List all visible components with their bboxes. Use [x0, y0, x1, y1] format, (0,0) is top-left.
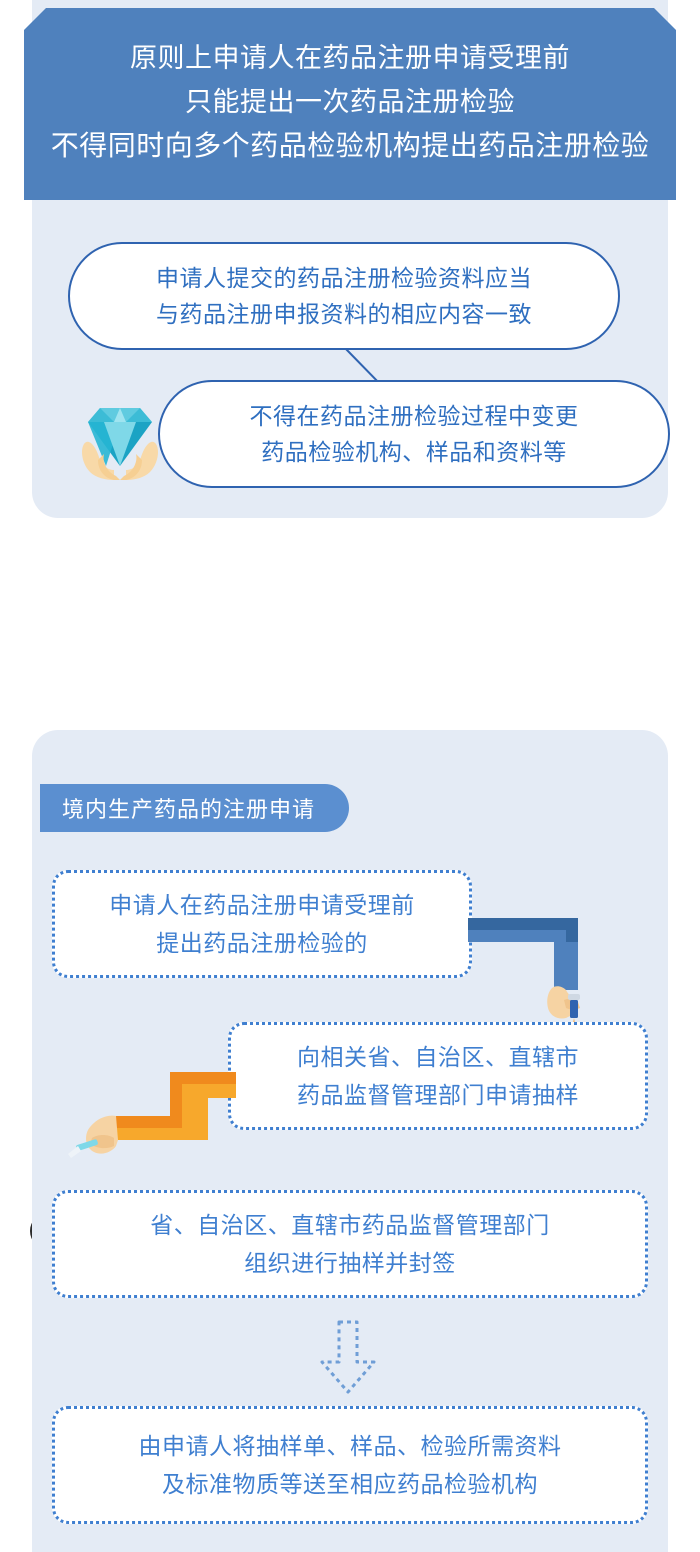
- flow-step-3-line-1: 省、自治区、直辖市药品监督管理部门: [150, 1206, 550, 1244]
- down-arrow-icon: [308, 1320, 388, 1394]
- rule-bubble-two-line-2: 药品检验机构、样品和资料等: [261, 434, 567, 470]
- category-tag-label: 境内生产药品的注册申请: [62, 792, 315, 824]
- article-heading: 第五十五条: [0, 600, 700, 710]
- orange-arm-with-pen-icon: [58, 1068, 248, 1188]
- headline-banner: 原则上申请人在药品注册申请受理前 只能提出一次药品注册检验 不得同时向多个药品检…: [24, 8, 676, 200]
- blue-arm-with-pen-icon: [468, 900, 598, 1030]
- flow-step-3-line-2: 组织进行抽样并封签: [244, 1244, 456, 1282]
- rule-bubble-two: 不得在药品注册检验过程中变更 药品检验机构、样品和资料等: [158, 380, 670, 488]
- headline-line-2: 只能提出一次药品注册检验: [185, 80, 515, 124]
- category-tag: 境内生产药品的注册申请: [40, 784, 349, 832]
- headline-line-1: 原则上申请人在药品注册申请受理前: [130, 36, 570, 80]
- flow-step-1-line-2: 提出药品注册检验的: [156, 924, 368, 962]
- rule-bubble-one-line-2: 与药品注册申报资料的相应内容一致: [156, 296, 532, 332]
- flow-step-2-line-1: 向相关省、自治区、直辖市: [297, 1038, 579, 1076]
- flow-step-3: 省、自治区、直辖市药品监督管理部门 组织进行抽样并封签: [52, 1190, 648, 1298]
- rule-bubble-two-line-1: 不得在药品注册检验过程中变更: [250, 398, 579, 434]
- rule-bubble-one-line-1: 申请人提交的药品注册检验资料应当: [156, 260, 532, 296]
- diamond-in-hands-icon: [74, 392, 166, 484]
- flow-step-2-line-2: 药品监督管理部门申请抽样: [297, 1076, 579, 1114]
- flow-step-4-line-1: 由申请人将抽样单、样品、检验所需资料: [139, 1427, 562, 1465]
- flow-step-4-line-2: 及标准物质等送至相应药品检验机构: [162, 1465, 538, 1503]
- flow-step-1: 申请人在药品注册申请受理前 提出药品注册检验的: [52, 870, 472, 978]
- rule-bubble-one: 申请人提交的药品注册检验资料应当 与药品注册申报资料的相应内容一致: [68, 242, 620, 350]
- headline-line-3: 不得同时向多个药品检验机构提出药品注册检验: [51, 124, 650, 168]
- flow-step-1-line-1: 申请人在药品注册申请受理前: [109, 886, 415, 924]
- flow-step-4: 由申请人将抽样单、样品、检验所需资料 及标准物质等送至相应药品检验机构: [52, 1406, 648, 1524]
- flow-step-2: 向相关省、自治区、直辖市 药品监督管理部门申请抽样: [228, 1022, 648, 1130]
